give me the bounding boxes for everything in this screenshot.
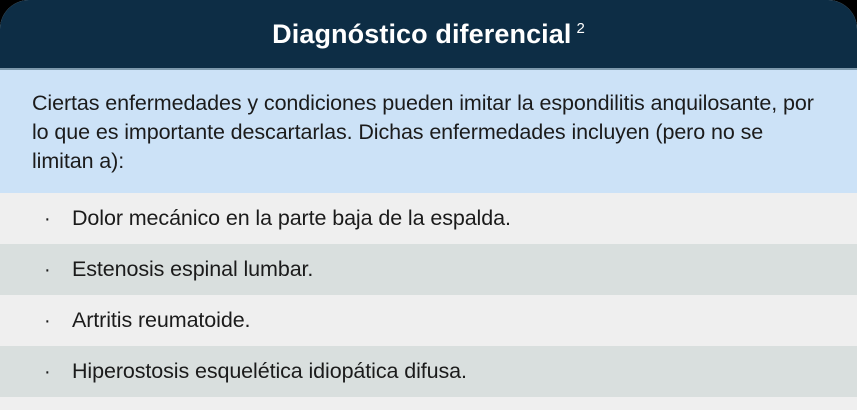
bullet-icon: · <box>44 260 72 280</box>
card-header: Diagnóstico diferencial2 <box>0 0 857 70</box>
list-item-label: Estenosis espinal lumbar. <box>72 256 313 283</box>
list-item: · Artritis reumatoide. <box>0 295 857 346</box>
citation-superscript: 2 <box>577 20 585 37</box>
list-item-label: Hiperostosis esquelética idiopática difu… <box>72 358 467 385</box>
list-item-label: Artritis reumatoide. <box>72 307 250 334</box>
bullet-icon: · <box>44 362 72 382</box>
bullet-icon: · <box>44 209 72 229</box>
list-item-label: Dolor mecánico en la parte baja de la es… <box>72 205 511 232</box>
list-item: · Estenosis espinal lumbar. <box>0 244 857 295</box>
list-item: · Dolor mecánico en la parte baja de la … <box>0 193 857 244</box>
condition-list: · Dolor mecánico en la parte baja de la … <box>0 193 857 397</box>
list-item: · Hiperostosis esquelética idiopática di… <box>0 346 857 397</box>
page-title: Diagnóstico diferencial2 <box>272 21 585 48</box>
bullet-icon: · <box>44 311 72 331</box>
differential-diagnosis-card: Diagnóstico diferencial2 Ciertas enferme… <box>0 0 857 410</box>
intro-block: Ciertas enfermedades y condiciones puede… <box>0 70 857 193</box>
page-title-text: Diagnóstico diferencial <box>272 19 571 49</box>
intro-paragraph: Ciertas enfermedades y condiciones puede… <box>32 89 823 176</box>
